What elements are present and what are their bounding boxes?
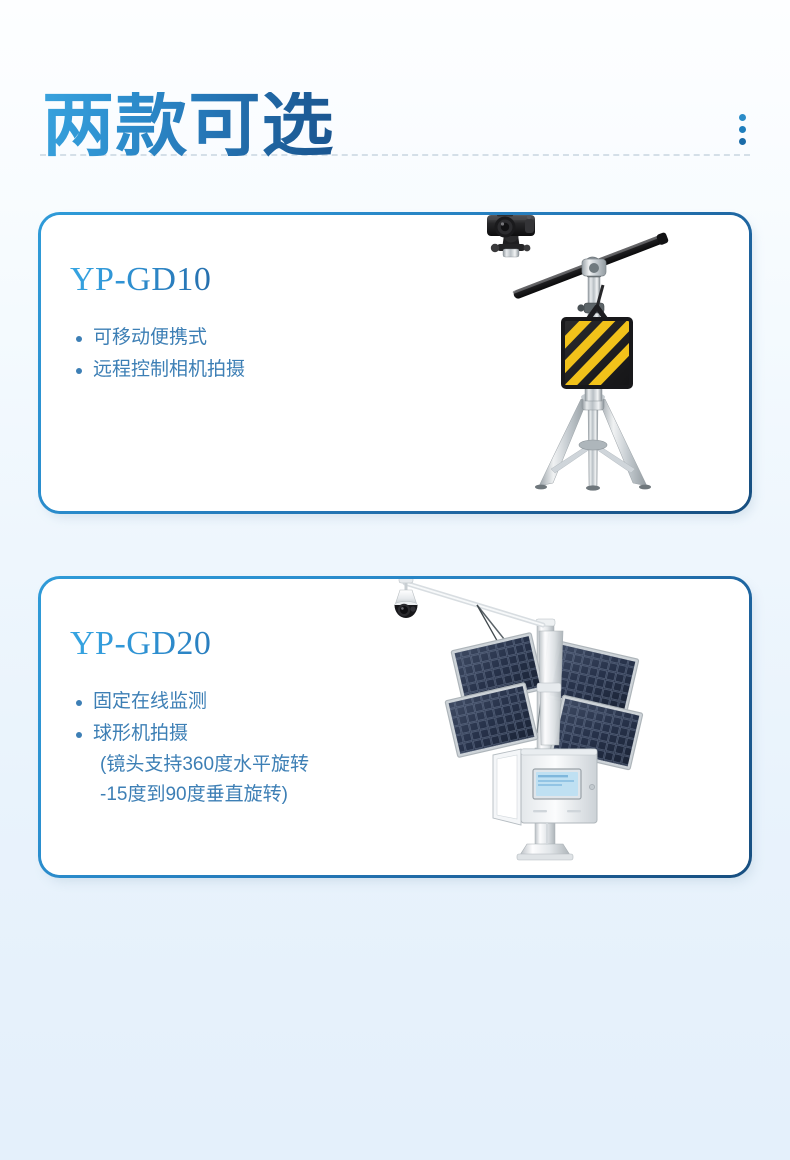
model-name: YP-GD10 <box>70 261 245 299</box>
feature-sub-line: (镜头支持360度水平旋转 <box>93 750 309 781</box>
dot-2 <box>739 126 746 133</box>
feature-item: 球形机拍摄 (镜头支持360度水平旋转 -15度到90度垂直旋转) <box>70 719 309 811</box>
product-card-yp-gd20[interactable]: YP-GD20 固定在线监测 球形机拍摄 (镜头支持360度水平旋转 -15度到… <box>38 576 752 878</box>
feature-label: 可移动便携式 <box>93 323 207 354</box>
bullet-icon <box>76 336 82 342</box>
feature-label: 固定在线监测 <box>93 687 207 718</box>
card-text-block: YP-GD20 固定在线监测 球形机拍摄 (镜头支持360度水平旋转 -15度到… <box>70 625 309 812</box>
portable-tripod-camera-boom-with-sandbag-image <box>441 215 731 511</box>
feature-label: 球形机拍摄 <box>93 719 309 750</box>
dot-3 <box>739 138 746 145</box>
feature-item: 远程控制相机拍摄 <box>70 355 245 386</box>
feature-list: 可移动便携式 远程控制相机拍摄 <box>70 323 245 386</box>
feature-item: 可移动便携式 <box>70 323 245 354</box>
product-card-yp-gd10[interactable]: YP-GD10 可移动便携式 远程控制相机拍摄 <box>38 212 752 514</box>
feature-label: 远程控制相机拍摄 <box>93 355 245 386</box>
title-row: 两款可选 <box>40 0 750 118</box>
page-header: 两款可选 <box>0 0 790 118</box>
card-text-block: YP-GD10 可移动便携式 远程控制相机拍摄 <box>70 261 245 387</box>
feature-list: 固定在线监测 球形机拍摄 (镜头支持360度水平旋转 -15度到90度垂直旋转) <box>70 687 309 811</box>
bullet-icon <box>76 732 82 738</box>
bullet-icon <box>76 700 82 706</box>
feature-sub-line: -15度到90度垂直旋转) <box>93 780 309 811</box>
bullet-icon <box>76 368 82 374</box>
page-title: 两款可选 <box>40 92 335 162</box>
feature-item: 固定在线监测 <box>70 687 309 718</box>
dot-1 <box>739 114 746 121</box>
card-inner: YP-GD20 固定在线监测 球形机拍摄 (镜头支持360度水平旋转 -15度到… <box>41 579 749 875</box>
card-inner: YP-GD10 可移动便携式 远程控制相机拍摄 <box>41 215 749 511</box>
model-name: YP-GD20 <box>70 625 309 663</box>
solar-powered-ptz-monitoring-pole-image <box>387 579 717 873</box>
vertical-dots-icon[interactable] <box>739 114 746 145</box>
product-cards: YP-GD10 可移动便携式 远程控制相机拍摄 <box>0 212 790 878</box>
